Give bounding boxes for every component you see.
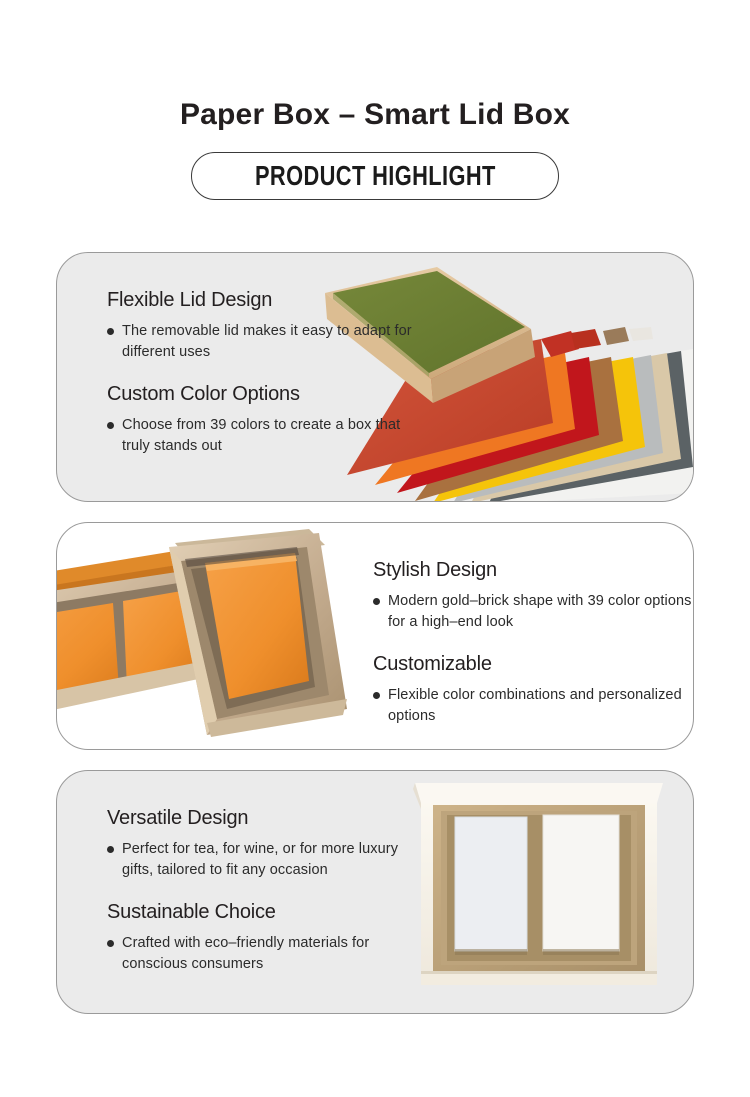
product-highlight-badge: PRODUCT HIGHLIGHT	[191, 152, 559, 200]
feature-title: Custom Color Options	[107, 383, 427, 406]
feature-bullet-text: The removable lid makes it easy to adapt…	[122, 321, 427, 363]
feature-block-customizable: Customizable Flexible color combinations…	[373, 653, 694, 727]
bullet-dot-icon	[107, 846, 114, 853]
feature-block-custom-color-options: Custom Color Options Choose from 39 colo…	[107, 383, 427, 457]
feature-bullet: Flexible color combinations and personal…	[373, 685, 694, 727]
card-text-stylish-design: Stylish Design Modern gold–brick shape w…	[373, 559, 694, 727]
feature-bullet: Choose from 39 colors to create a box th…	[107, 415, 427, 457]
feature-title: Stylish Design	[373, 559, 694, 582]
bullet-dot-icon	[107, 422, 114, 429]
orange-gold-brick-trays-photo	[57, 523, 397, 750]
badge-container: PRODUCT HIGHLIGHT	[0, 152, 750, 200]
feature-bullet: Crafted with eco–friendly materials for …	[107, 933, 427, 975]
feature-bullet: Modern gold–brick shape with 39 color op…	[373, 591, 694, 633]
highlight-card-stylish-design: Stylish Design Modern gold–brick shape w…	[56, 522, 694, 750]
feature-block-sustainable-choice: Sustainable Choice Crafted with eco–frie…	[107, 901, 427, 975]
bullet-dot-icon	[373, 598, 380, 605]
bullet-dot-icon	[107, 328, 114, 335]
product-highlight-badge-label: PRODUCT HIGHLIGHT	[255, 160, 496, 192]
page-title: Paper Box – Smart Lid Box	[0, 98, 750, 131]
bullet-dot-icon	[107, 940, 114, 947]
white-cream-box-with-inserts-photo	[395, 779, 685, 1007]
feature-title: Sustainable Choice	[107, 901, 427, 924]
feature-bullet: Perfect for tea, for wine, or for more l…	[107, 839, 427, 881]
feature-bullet-text: Modern gold–brick shape with 39 color op…	[388, 591, 694, 633]
feature-block-flexible-lid-design: Flexible Lid Design The removable lid ma…	[107, 289, 427, 363]
feature-title: Customizable	[373, 653, 694, 676]
card-text-versatile-design: Versatile Design Perfect for tea, for wi…	[107, 807, 427, 975]
feature-bullet-text: Crafted with eco–friendly materials for …	[122, 933, 427, 975]
feature-title: Flexible Lid Design	[107, 289, 427, 312]
feature-bullet-text: Choose from 39 colors to create a box th…	[122, 415, 427, 457]
highlight-cards: Flexible Lid Design The removable lid ma…	[0, 252, 750, 1014]
feature-block-versatile-design: Versatile Design Perfect for tea, for wi…	[107, 807, 427, 881]
feature-bullet: The removable lid makes it easy to adapt…	[107, 321, 427, 363]
feature-block-stylish-design: Stylish Design Modern gold–brick shape w…	[373, 559, 694, 633]
feature-title: Versatile Design	[107, 807, 427, 830]
highlight-card-versatile-design: Versatile Design Perfect for tea, for wi…	[56, 770, 694, 1014]
card-text-flexible-lid: Flexible Lid Design The removable lid ma…	[107, 289, 427, 457]
bullet-dot-icon	[373, 692, 380, 699]
feature-bullet-text: Flexible color combinations and personal…	[388, 685, 694, 727]
highlight-card-flexible-lid: Flexible Lid Design The removable lid ma…	[56, 252, 694, 502]
page-header: Paper Box – Smart Lid Box PRODUCT HIGHLI…	[0, 0, 750, 200]
feature-bullet-text: Perfect for tea, for wine, or for more l…	[122, 839, 427, 881]
